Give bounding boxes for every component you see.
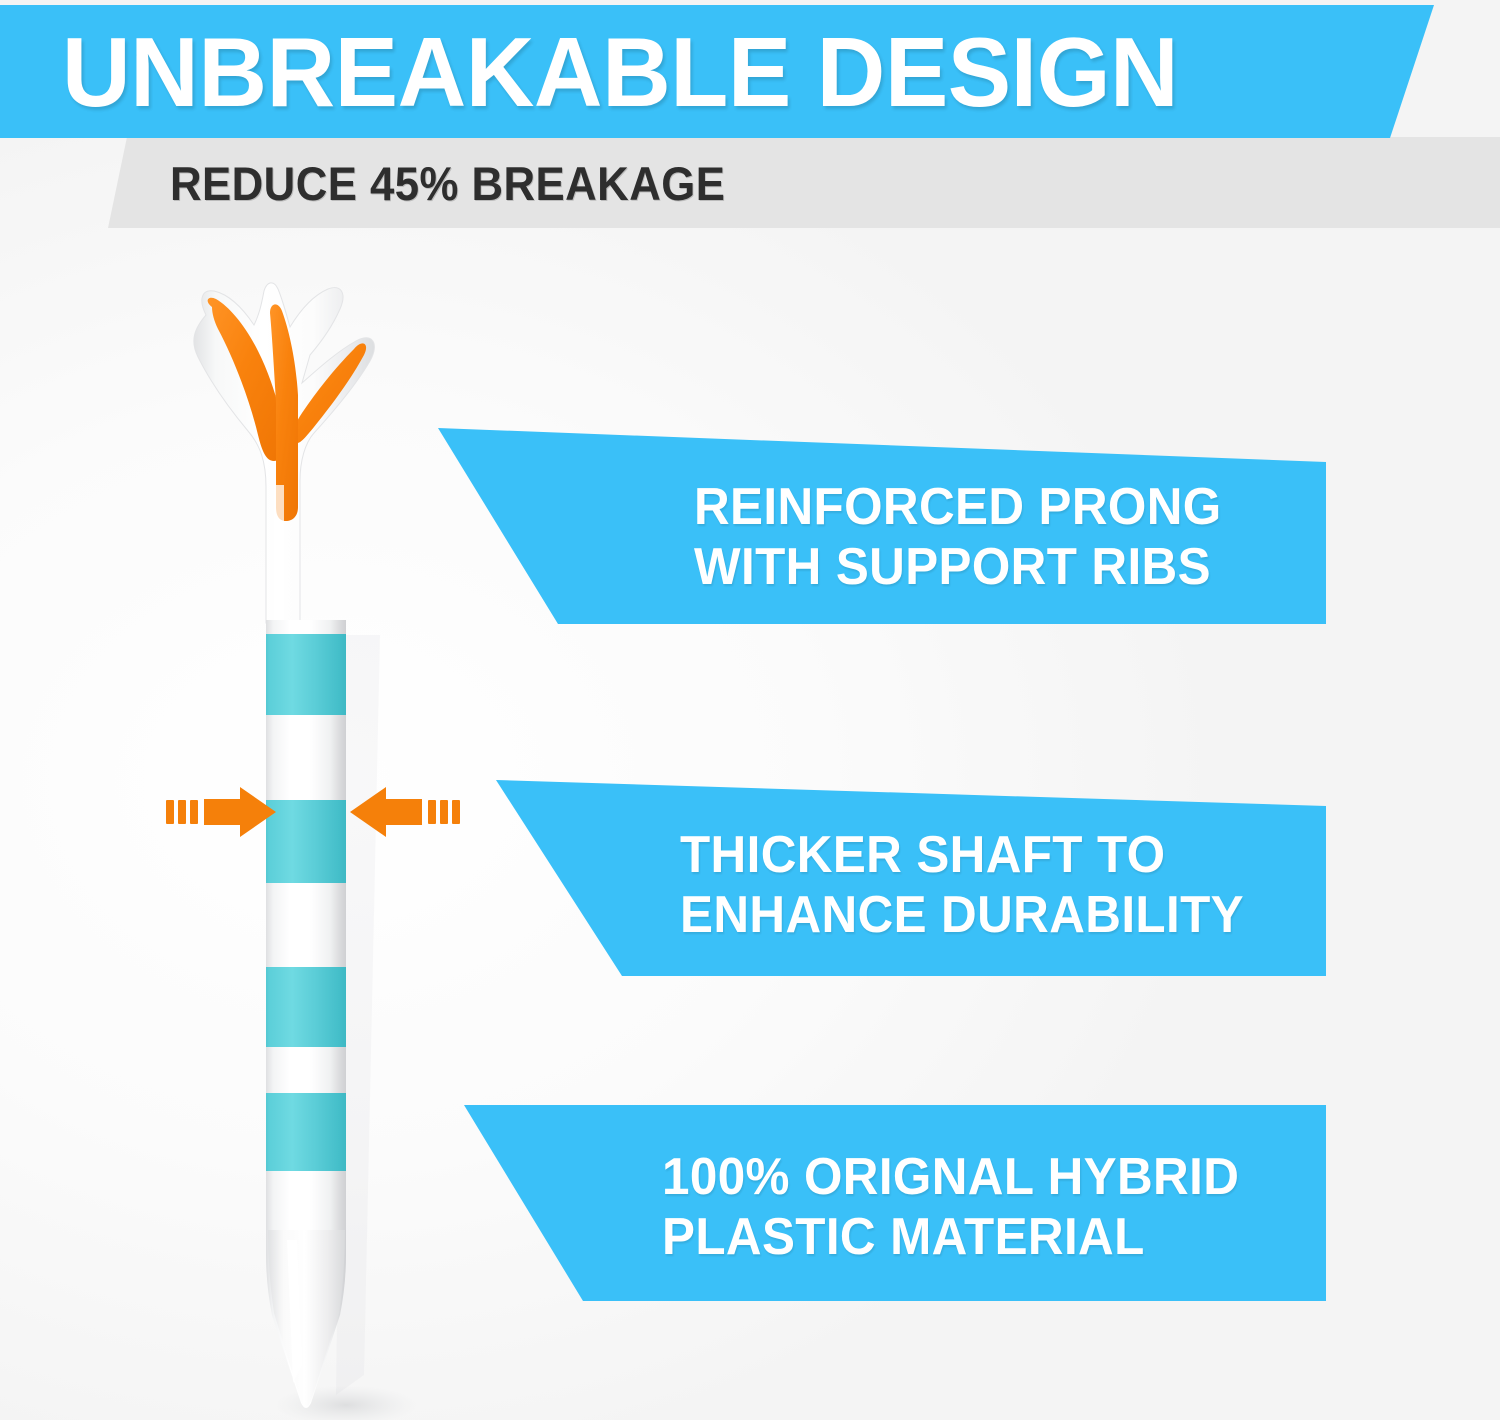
callout-thicker-shaft: THICKER SHAFT TO ENHANCE DURABILITY xyxy=(438,780,1326,976)
page-title: UNBREAKABLE DESIGN xyxy=(62,12,1178,132)
tee-stripe-1 xyxy=(260,634,352,715)
header-subhead-text: REDUCE 45% BREAKAGE xyxy=(170,152,1100,214)
compression-arrow-left-icon xyxy=(166,786,276,838)
motion-bar-1 xyxy=(428,800,436,824)
infographic-canvas: REDUCE 45% BREAKAGE UNBREAKABLE DESIGN xyxy=(0,0,1500,1420)
tee-shaft xyxy=(260,620,352,1408)
motion-bar-3 xyxy=(452,800,460,824)
arrow-left-pointing-icon xyxy=(350,787,422,837)
callout-line-2: WITH SUPPORT RIBS xyxy=(694,537,1294,597)
tee-neck-highlight xyxy=(274,485,284,623)
callout-line-1: THICKER SHAFT TO xyxy=(680,825,1294,885)
motion-bar-1 xyxy=(166,800,174,824)
callout-line-1: 100% ORIGNAL HYBRID xyxy=(662,1147,1293,1207)
tee-stripe-3 xyxy=(260,967,352,1047)
tee-crown xyxy=(194,283,375,623)
motion-bar-3 xyxy=(190,800,198,824)
compression-arrow-right-icon xyxy=(350,786,460,838)
callout-hybrid-plastic: 100% ORIGNAL HYBRID PLASTIC MATERIAL xyxy=(438,1105,1326,1301)
tee-stripe-4 xyxy=(260,1093,352,1171)
tee-tip xyxy=(268,1230,345,1407)
callout-line-2: PLASTIC MATERIAL xyxy=(662,1207,1293,1267)
callout-reinforced-prong: REINFORCED PRONG WITH SUPPORT RIBS xyxy=(438,428,1326,624)
callout-line-2: ENHANCE DURABILITY xyxy=(680,885,1294,945)
callout-line-1: REINFORCED PRONG xyxy=(694,477,1294,537)
arrow-right-pointing-icon xyxy=(204,787,276,837)
motion-bar-2 xyxy=(440,800,448,824)
motion-bar-2 xyxy=(178,800,186,824)
